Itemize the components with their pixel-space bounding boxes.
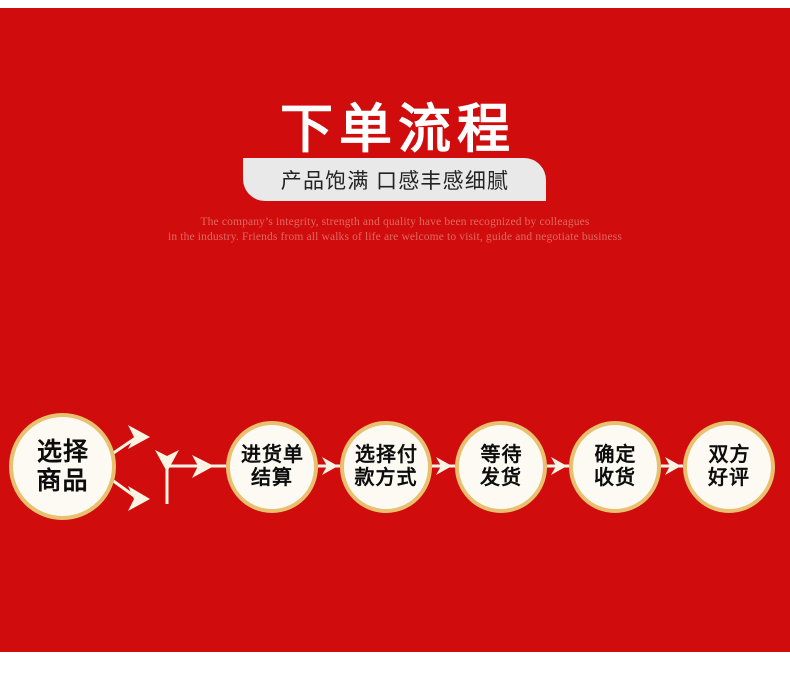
flow-node-label: 选择付 款方式 [354, 444, 418, 490]
subtitle-text: 产品饱满 口感丰感细腻 [280, 165, 509, 195]
english-blurb-line-2: in the industry. Friends from all walks … [0, 231, 790, 243]
flow-node-mutual-review[interactable]: 双方 好评 [683, 421, 775, 513]
promo-poster: 下单流程 产品饱满 口感丰感细腻 The company’s integrity… [0, 0, 790, 678]
flow-node-label: 双方 好评 [708, 444, 751, 490]
flow-node-await-shipment[interactable]: 等待 发货 [455, 421, 547, 513]
english-blurb-line-1: The company’s integrity, strength and qu… [0, 216, 790, 228]
arrowhead-chain-0-to-1 [322, 457, 338, 475]
connector-start-to-branch-a [112, 437, 137, 454]
flow-node-choose-payment[interactable]: 选择付 款方式 [340, 421, 432, 513]
page-title: 下单流程 [0, 99, 790, 161]
arrowhead-junction-to-chain-0 [192, 455, 214, 478]
red-background-panel: 下单流程 产品饱满 口感丰感细腻 The company’s integrity… [0, 8, 790, 652]
arrowhead-start-to-branch-a [128, 425, 150, 449]
flow-node-label: 进货单 结算 [240, 444, 304, 490]
connector-start-to-branch-b [112, 480, 137, 498]
order-process-flow-diagram: 选择 商品 放入 进货单 继续 购物 进货单 结算 选择付 款方式 等待 发货 … [0, 338, 790, 598]
flow-node-select-product[interactable]: 选择 商品 [9, 413, 116, 520]
flow-node-label: 等待 发货 [480, 444, 523, 490]
arrowhead-chain-2-to-3 [551, 457, 567, 475]
flow-node-label: 确定 收货 [594, 444, 637, 490]
arrowhead-chain-1-to-2 [436, 457, 452, 475]
arrowhead-chain-3-to-4 [665, 457, 681, 475]
flow-node-label: 选择 商品 [36, 438, 89, 496]
arrowhead-junction-down [155, 450, 179, 472]
arrowhead-start-to-branch-b [128, 486, 150, 511]
flow-node-confirm-receipt[interactable]: 确定 收货 [569, 421, 661, 513]
subtitle-banner: 产品饱满 口感丰感细腻 [243, 158, 546, 201]
flow-node-order-settlement[interactable]: 进货单 结算 [226, 421, 318, 513]
